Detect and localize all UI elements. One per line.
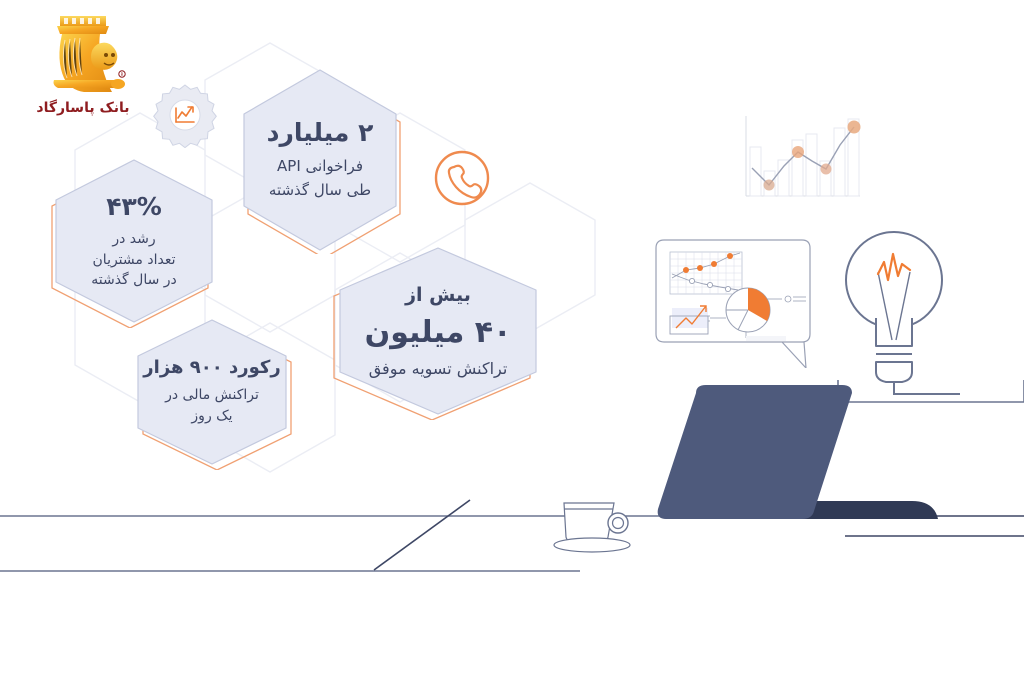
stat-hexagon-customer-growth[interactable]: ۴۳% رشد در تعداد مشتریان در سال گذشته (48, 152, 220, 328)
stat-value: ۴۰ میلیون (365, 312, 512, 353)
pasargad-column-lion-icon: R (24, 8, 142, 100)
stat-value: رکورد ۹۰۰ هزار (143, 356, 280, 381)
coffee-cup-icon (552, 495, 652, 557)
stat-prefix: بیش از (405, 282, 471, 308)
gear-icon (152, 82, 218, 148)
infographic-canvas: R بانک پاسارگاد ۲ میلیارد فراخ (0, 0, 1024, 683)
stat-hexagon-api-calls[interactable]: ۲ میلیارد فراخوانی API طی سال گذشته (236, 62, 404, 254)
stat-hexagon-customer-growth-label: ۴۳% رشد در تعداد مشتریان در سال گذشته (48, 152, 220, 328)
stat-line-2: تعداد مشتریان (93, 251, 176, 270)
stat-line-1: تراکنش تسویه موفق (369, 358, 508, 380)
stat-line-1: فراخوانی API (277, 156, 363, 177)
stat-line-1: رشد در (112, 230, 155, 249)
phone-call-icon (431, 147, 493, 209)
stat-line-2: طی سال گذشته (269, 180, 371, 201)
stat-value: ۲ میلیارد (267, 116, 374, 151)
background-bar-line-chart (740, 110, 865, 202)
laptop-icon (612, 385, 952, 560)
bank-logo-label: بانک پاسارگاد (24, 100, 142, 116)
analytics-speech-bubble-icon (648, 236, 818, 368)
stat-value: ۴۳% (106, 190, 162, 225)
svg-text:R: R (121, 72, 124, 77)
stat-line-3: در سال گذشته (91, 271, 177, 290)
footer: PASARGAD DIGITAL PLATFORM PODIUM یادیوم (0, 590, 1024, 683)
stat-hexagon-api-calls-label: ۲ میلیارد فراخوانی API طی سال گذشته (236, 62, 404, 254)
bank-pasargad-logo: R بانک پاسارگاد (24, 8, 142, 116)
